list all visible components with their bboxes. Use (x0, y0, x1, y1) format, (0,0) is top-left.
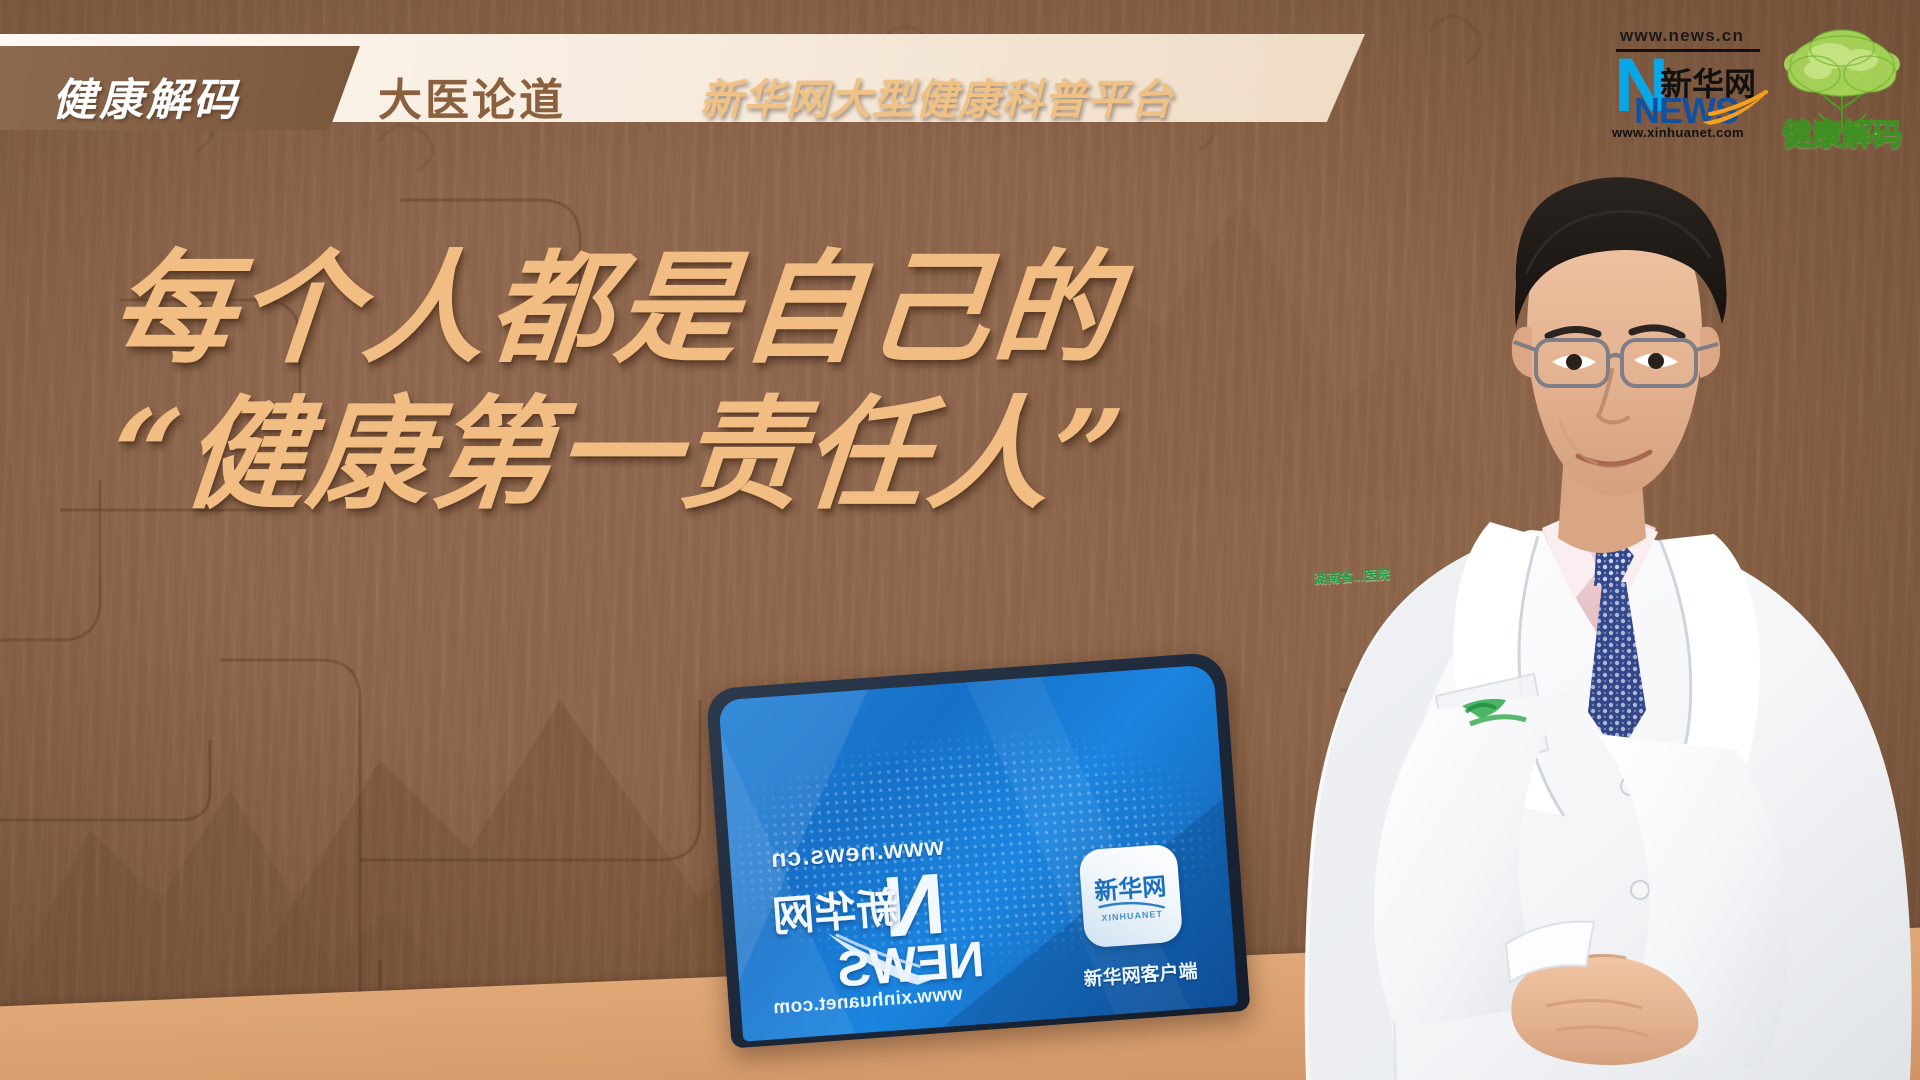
laptop-screen: www.news.cn N 新华网 NEWS www.xinhuanet.com… (718, 664, 1238, 1041)
screen-app-icon: 新华网 XINHUANET (1078, 843, 1183, 948)
eye-right (1648, 353, 1664, 369)
doctor-body (1305, 514, 1912, 1080)
xinhua-swoosh-icon (1700, 90, 1770, 126)
xinhua-url-bottom: www.xinhuanet.com (1612, 125, 1744, 140)
xinhua-logo: www.news.cn N 新华网 NEWS www.xinhuanet.com (1592, 26, 1764, 134)
platform-tagline-label: 新华网大型健康科普平台 (700, 66, 1173, 127)
screen-swoosh-icon (821, 922, 935, 994)
screen-app-caption: 新华网客户端 (1083, 956, 1199, 991)
coat-button (1631, 881, 1649, 899)
health-program-cover-image: www.news.cn N 新华网 NEWS www.xinhuanet.com… (0, 0, 1920, 1080)
eye-left (1566, 354, 1582, 370)
tree-logo-label: 健康解码 (1774, 110, 1910, 154)
screen-content-mirrored: www.news.cn N 新华网 NEWS www.xinhuanet.com… (718, 664, 1238, 1041)
main-title-line-2: “健康第一责任人” (106, 382, 1119, 526)
doctor-portrait (1230, 60, 1920, 1080)
health-decode-tree-logo: 健康解码 (1772, 18, 1912, 146)
main-title-line-1: 每个人都是自己的 (106, 236, 1119, 380)
laptop-device: www.news.cn N 新华网 NEWS www.xinhuanet.com… (706, 651, 1251, 1048)
doctor-head (1512, 177, 1727, 496)
main-title: 每个人都是自己的 “健康第一责任人” (112, 236, 1112, 526)
